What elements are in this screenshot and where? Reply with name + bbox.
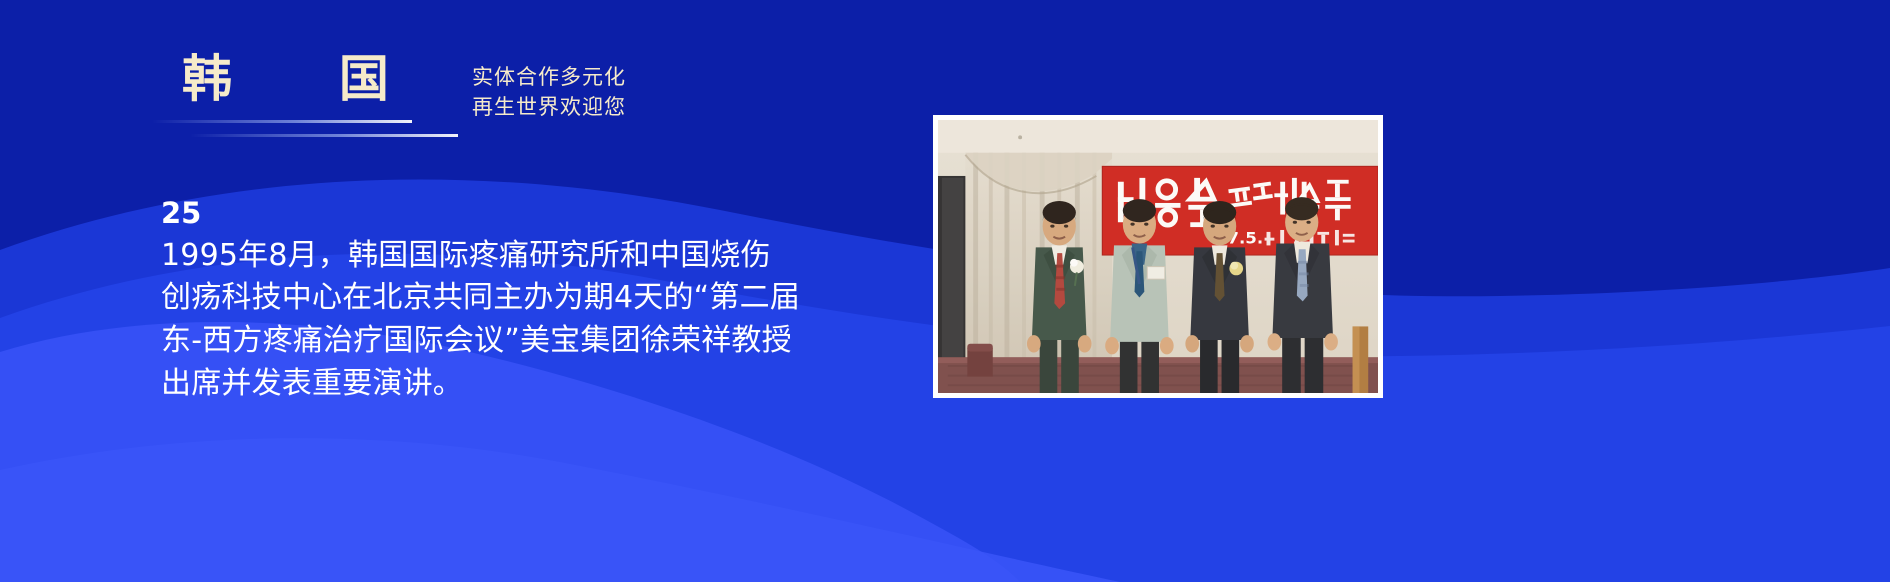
subtitle-line-2: 再生世界欢迎您 xyxy=(472,92,626,122)
decorative-line-bottom xyxy=(190,134,458,137)
slide-title: 韩 国 xyxy=(182,52,413,107)
body-paragraph: 1995年8月，韩国国际疼痛研究所和中国烧伤创疡科技中心在北京共同主办为期4天的… xyxy=(161,235,801,405)
event-photo: 7.5. xyxy=(933,115,1383,398)
decorative-line-top xyxy=(152,120,412,123)
presentation-slide: 韩 国 实体合作多元化 再生世界欢迎您 25 1995年8月，韩国国际疼痛研究所… xyxy=(0,0,1890,582)
subtitle-block: 实体合作多元化 再生世界欢迎您 xyxy=(472,62,626,123)
subtitle-line-1: 实体合作多元化 xyxy=(472,62,626,92)
item-number: 25 xyxy=(161,196,801,231)
body-block: 25 1995年8月，韩国国际疼痛研究所和中国烧伤创疡科技中心在北京共同主办为期… xyxy=(161,196,801,405)
decorative-lines xyxy=(152,120,482,137)
event-photo-image: 7.5. xyxy=(938,120,1378,393)
title-block: 韩 国 xyxy=(182,52,413,107)
